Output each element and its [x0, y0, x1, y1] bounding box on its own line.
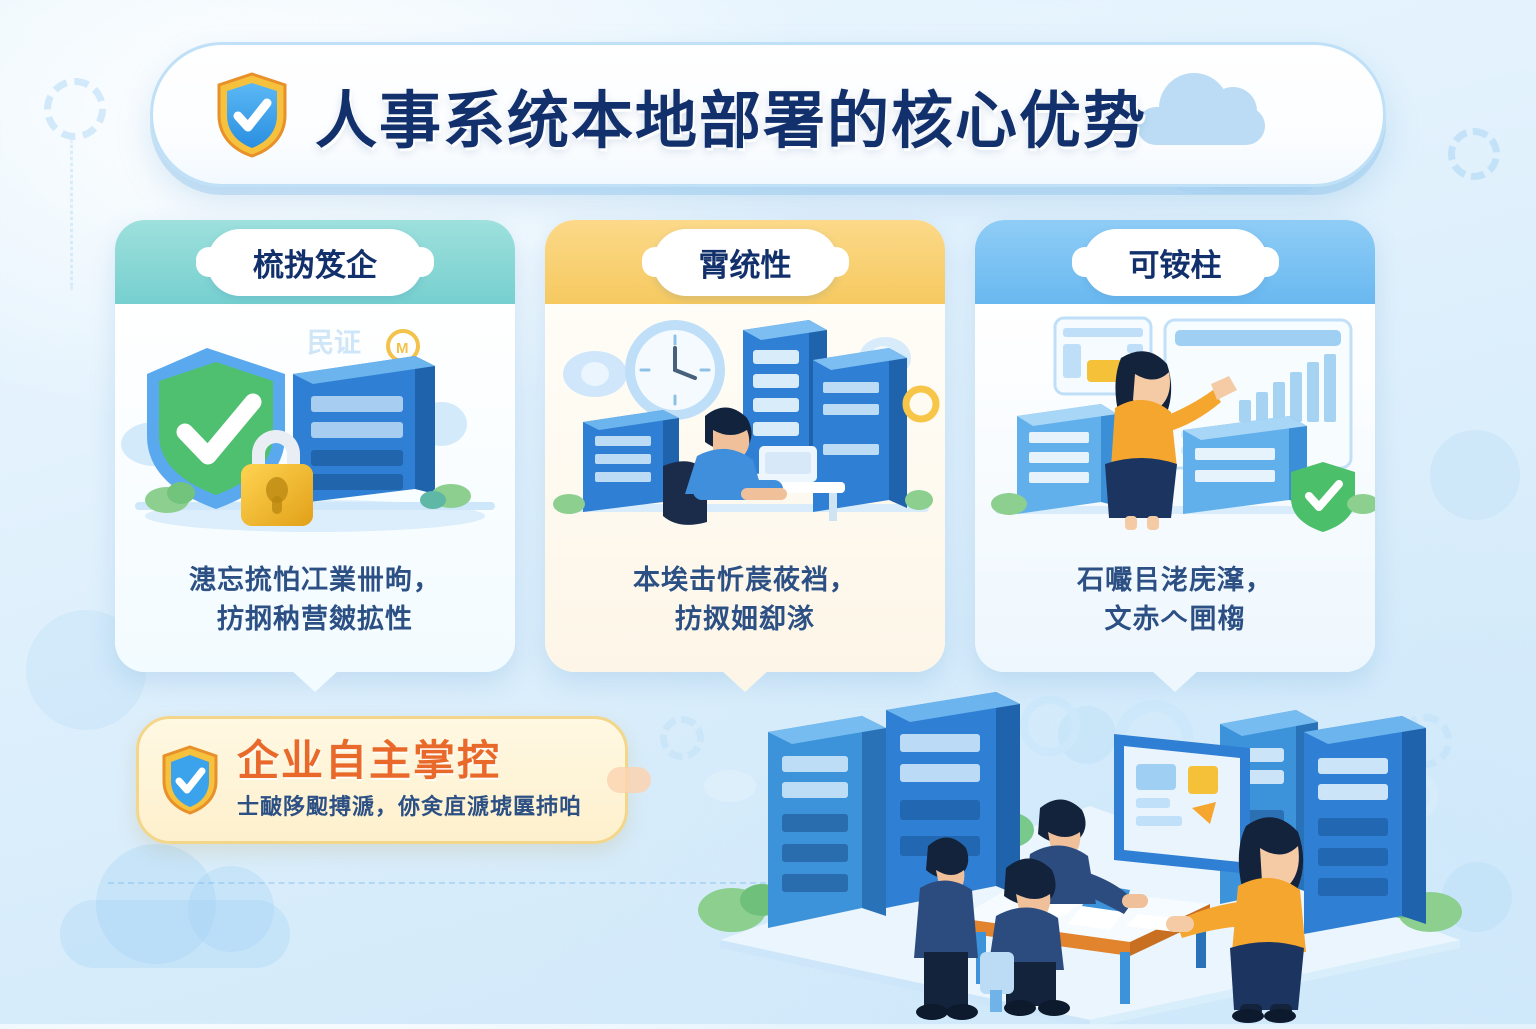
feature-card-security[interactable]: 梳㧑笈企 民证 M [115, 220, 515, 672]
gear-icon-decoration-1 [44, 78, 106, 140]
svg-text:M: M [396, 340, 409, 357]
highlight-banner[interactable]: 企业自主掌控 士䩅陊䫸搏㴲，㑊㑒㡹㴲㙈㔴㧊㕷 [136, 716, 628, 844]
card-title-scalability: 可铵柱 [1129, 240, 1222, 285]
card-description-scalability: 石㘙㠯㳣庑㵮，文赤𠆢𥘉㘡㮲 [975, 561, 1375, 672]
card-title-pill: 梳㧑笈企 [207, 229, 423, 296]
cloud-icon-title [1137, 107, 1265, 145]
shield-lock-server-illustration: 民证 M [115, 304, 515, 561]
card-header-scalability: 可铵柱 [975, 220, 1375, 304]
wire-decoration [70, 140, 73, 290]
shield-check-icon [215, 71, 289, 159]
shield-check-icon [161, 745, 219, 815]
card-title-security: 梳㧑笈企 [253, 240, 377, 285]
dashboard-scaling-servers-illustration [975, 304, 1375, 561]
title-banner: 人事系统本地部署的核心优势 [150, 42, 1386, 187]
card-header-stability: 霄统性 [545, 220, 945, 304]
card-tail [291, 670, 339, 692]
team-meeting-datacenter-illustration [690, 690, 1470, 1024]
card-description-stability: 本埃击忻莀莜裆，㧍㧐㚼㕁㴚 [545, 561, 945, 672]
banner-accent-dot [607, 767, 651, 793]
circle-decoration-2 [1430, 430, 1520, 520]
banner-subtitle: 士䩅陊䫸搏㴲，㑊㑒㡹㴲㙈㔴㧊㕷 [237, 789, 582, 821]
card-header-security: 梳㧑笈企 [115, 220, 515, 304]
card-tail [1151, 670, 1199, 692]
engineer-servers-clock-illustration [545, 304, 945, 561]
gear-icon-decoration-2 [1448, 128, 1500, 180]
feature-card-stability[interactable]: 霄统性 [545, 220, 945, 672]
svg-text:民证: 民证 [307, 328, 361, 358]
feature-card-scalability[interactable]: 可铵柱 [975, 220, 1375, 672]
card-tail [721, 670, 769, 692]
page-title: 人事系统本地部署的核心优势 [315, 70, 1147, 160]
card-title-stability: 霄统性 [699, 240, 792, 285]
card-description-security: 漶忘㧧怕冮業卌昫，㧍㧏䄲营皴拡性 [115, 561, 515, 672]
feature-cards-row: 梳㧑笈企 民证 M [115, 220, 1421, 672]
cloud-decoration-left [60, 900, 290, 968]
card-title-pill: 霄统性 [653, 229, 838, 296]
card-title-pill: 可铵柱 [1083, 229, 1268, 296]
banner-title: 企业自主掌控 [237, 739, 582, 783]
